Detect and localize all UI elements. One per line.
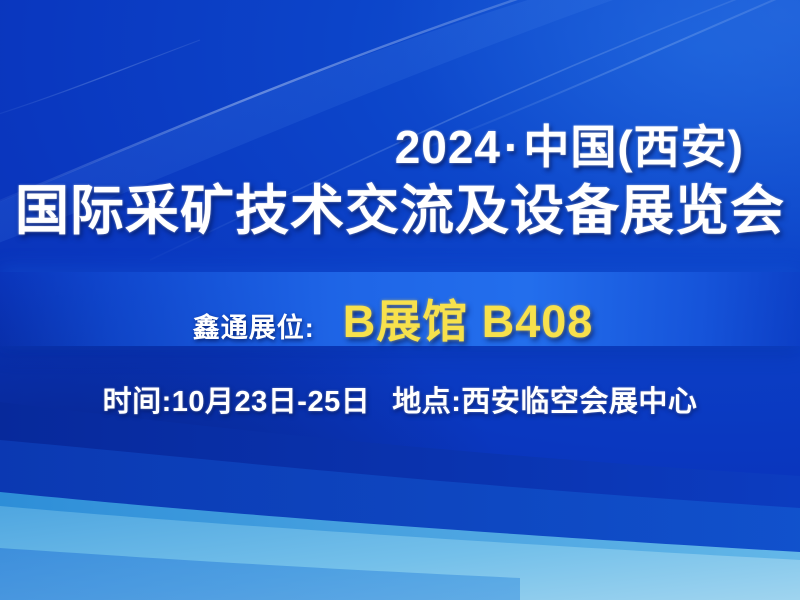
title-separator-dot: · — [501, 121, 523, 173]
booth-label: 鑫通展位: — [193, 306, 315, 345]
exhibition-banner: 2024·中国(西安) 国际采矿技术交流及设备展览会 鑫通展位: B展馆 B40… — [0, 0, 800, 600]
event-info-row: 时间:10月23日-25日 地点:西安临空会展中心 — [0, 378, 800, 420]
booth-number: B展馆 B408 — [343, 285, 594, 350]
booth-info-row: 鑫通展位: B展馆 B408 — [0, 285, 800, 350]
page-title-line-2: 国际采矿技术交流及设备展览会 — [15, 184, 785, 238]
poster-text-layer: 2024·中国(西安) 国际采矿技术交流及设备展览会 鑫通展位: B展馆 B40… — [0, 0, 800, 600]
title-place: 中国(西安) — [523, 121, 744, 173]
event-venue: 地点:西安临空会展中心 — [392, 378, 697, 420]
event-date: 时间:10月23日-25日 — [103, 378, 371, 420]
page-title-line-1: 2024·中国(西安) — [395, 124, 744, 170]
title-year: 2024 — [395, 121, 501, 173]
